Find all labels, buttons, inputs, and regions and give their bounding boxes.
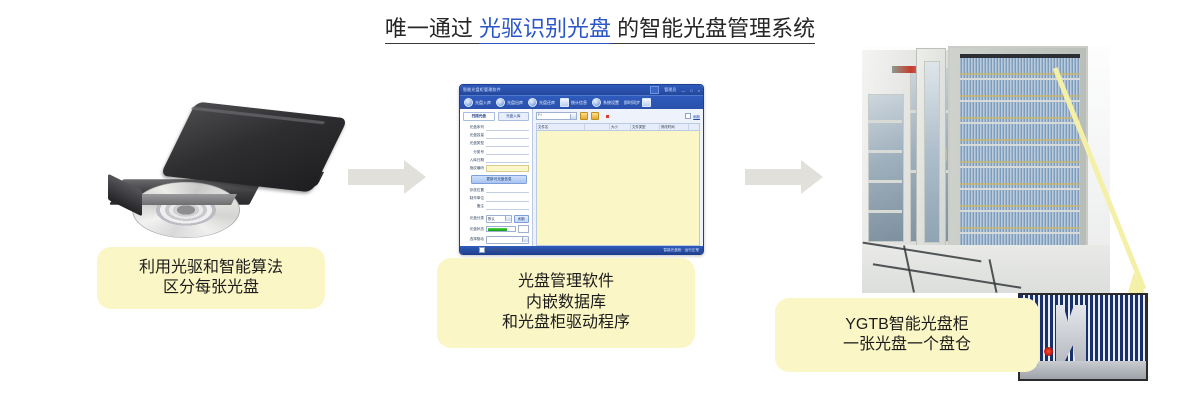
disc-count-stepper[interactable] xyxy=(518,225,529,233)
toolbar-disc-in-label: 光盘入库 xyxy=(475,100,491,106)
arrow-shaft xyxy=(348,169,404,185)
dvd-drive-photo xyxy=(112,108,344,220)
disc-status-progress xyxy=(486,226,516,232)
arrow-software-to-cabinet xyxy=(745,160,823,194)
toolbar-disc-out-label: 光盘出库 xyxy=(507,100,523,106)
field-location: 存放位置 xyxy=(463,188,529,194)
disc-shelf xyxy=(960,124,1080,147)
tab-disc-in[interactable]: 光盘入库 xyxy=(498,112,530,121)
title-prefix: 唯一通过 xyxy=(385,16,479,44)
caption-left-line1: 利用光驱和智能算法 xyxy=(139,258,283,278)
toolbar-settings[interactable]: 系统设置 xyxy=(592,98,619,107)
drive-select[interactable] xyxy=(486,236,529,244)
refresh-link[interactable]: 刷新 xyxy=(693,114,700,119)
disc-return-icon xyxy=(528,98,537,107)
toolbar-disc-in[interactable]: 光盘入库 xyxy=(464,98,491,107)
field-disc-status: 光盘状态 xyxy=(463,225,529,233)
caption-center: 光盘管理软件 内嵌数据库 和光盘柜驱动程序 xyxy=(437,258,695,348)
disc-in-icon xyxy=(464,98,473,107)
file-list-area[interactable] xyxy=(536,130,700,247)
disc-shelf xyxy=(960,190,1080,213)
toolbar-disc-return-label: 光盘还库 xyxy=(539,100,555,106)
field-disc-capacity: 光盘容量 xyxy=(463,133,529,139)
remark-input[interactable] xyxy=(486,204,529,210)
led-indicator xyxy=(1044,347,1053,356)
open-folder-icon[interactable] xyxy=(591,112,599,120)
field-label: 分类号 xyxy=(463,150,484,155)
disc-shelf xyxy=(960,212,1080,235)
cabinet-interior xyxy=(960,54,1080,248)
stats-icon xyxy=(560,98,569,107)
cabinet-glass-pane-left xyxy=(868,94,904,242)
arrow-drive-to-software xyxy=(348,160,426,194)
caption-center-line3: 和光盘柜驱动程序 xyxy=(502,313,630,333)
field-label: 光盘状态 xyxy=(463,227,484,232)
field-remark: 备注 xyxy=(463,204,529,210)
app-toolbar: 光盘入库 光盘出库 光盘还库 统计信息 系统设置 即时同步 xyxy=(460,95,703,109)
minimize-button[interactable]: — xyxy=(681,88,685,93)
user-label: 管理员 xyxy=(664,87,676,93)
tab-scan-disc[interactable]: 扫描光盘 xyxy=(463,112,495,121)
auto-read-checkbox[interactable]: 自动读取光盘 xyxy=(479,247,529,253)
in-date-input[interactable] xyxy=(486,157,529,163)
slot-base xyxy=(1020,361,1146,379)
arrow-head xyxy=(801,160,823,194)
disc-shelf xyxy=(960,102,1080,125)
field-label: 光盘序列 xyxy=(463,125,484,130)
field-label: 制作单位 xyxy=(463,196,484,201)
form-tabs: 扫描光盘 光盘入库 xyxy=(463,112,529,121)
field-label: 选择驱动 xyxy=(463,237,484,242)
field-label: 入库日期 xyxy=(463,158,484,163)
close-button[interactable]: × xyxy=(698,88,700,93)
field-fingerprint: 指纹编码 xyxy=(463,165,529,172)
app-body: 扫描光盘 光盘入库 光盘序列 光盘容量 光盘类型 分类号 xyxy=(460,109,703,246)
disc-capacity-input[interactable] xyxy=(486,133,529,139)
field-label: 存放位置 xyxy=(463,188,484,193)
field-maker: 制作单位 xyxy=(463,196,529,202)
disc-shelf xyxy=(960,58,1080,81)
field-label: 光盘类型 xyxy=(463,141,484,146)
caption-right-line2: 一张光盘一个盘仓 xyxy=(843,335,971,355)
field-disc-serial: 光盘序列 xyxy=(463,125,529,131)
toolbar-settings-label: 系统设置 xyxy=(603,100,619,106)
disc-type-input[interactable] xyxy=(486,141,529,147)
record-dot-icon xyxy=(606,115,609,118)
page-title: 唯一通过 光驱识别光盘 的智能光盘管理系统 xyxy=(0,14,1200,44)
title-suffix: 的智能光盘管理系统 xyxy=(611,16,815,44)
caption-center-line2: 内嵌数据库 xyxy=(502,293,630,313)
toolbar-stats-label: 统计信息 xyxy=(571,100,587,106)
disc-shelf xyxy=(960,146,1080,169)
caption-center-line1: 光盘管理软件 xyxy=(502,272,630,292)
status-text: 智能光盘柜 · 运行正常 xyxy=(663,248,699,253)
toolbar-disc-return[interactable]: 光盘还库 xyxy=(528,98,555,107)
app-titlebar: 智能光盘柜管理软件 管理员 — □ × xyxy=(460,85,703,95)
floor xyxy=(862,245,1110,293)
cabinet-glass-door[interactable] xyxy=(916,48,946,258)
caption-left: 利用光驱和智能算法 区分每张光盘 xyxy=(97,247,325,309)
title-emphasis: 光驱识别光盘 xyxy=(479,16,611,44)
field-label: 光盘分类 xyxy=(463,216,484,221)
refresh-checkbox[interactable] xyxy=(685,113,691,119)
toolbar-sync-label: 即时同步 xyxy=(624,100,640,106)
toolbar-disc-out[interactable]: 光盘出库 xyxy=(496,98,523,107)
maker-input[interactable] xyxy=(486,196,529,202)
drive-tray-lip xyxy=(135,194,237,205)
location-input[interactable] xyxy=(486,188,529,194)
field-drive-select: 选择驱动 xyxy=(463,236,529,244)
app-title-text: 智能光盘柜管理软件 xyxy=(463,87,501,93)
field-label: 指纹编码 xyxy=(463,166,484,171)
file-pane: F:\ 刷新 文件名 大小 文件类型 修改时间 xyxy=(533,109,703,246)
gear-icon xyxy=(592,98,601,107)
fingerprint-input[interactable] xyxy=(486,165,529,172)
disc-out-icon xyxy=(496,98,505,107)
category-no-input[interactable] xyxy=(486,149,529,155)
field-in-date: 入库日期 xyxy=(463,157,529,163)
form-pane: 扫描光盘 光盘入库 光盘序列 光盘容量 光盘类型 分类号 xyxy=(460,109,533,246)
smart-disc-cabinet xyxy=(948,46,1088,258)
disc-shelf xyxy=(960,168,1080,191)
file-toolbar: F:\ 刷新 xyxy=(536,112,700,120)
door-glass-panel xyxy=(924,61,940,243)
path-select[interactable]: F:\ xyxy=(536,112,577,120)
sync-icon xyxy=(642,98,651,107)
field-label: 备注 xyxy=(463,204,484,209)
field-disc-category: 光盘分类 默认 刷新 xyxy=(463,215,529,223)
folder-icon[interactable] xyxy=(580,112,588,120)
user-icon xyxy=(650,86,659,94)
field-label: 光盘容量 xyxy=(463,133,484,138)
arrow-shaft xyxy=(745,169,801,185)
caption-left-line2: 区分每张光盘 xyxy=(139,278,283,298)
checkbox-label: 自动读取光盘 xyxy=(487,247,507,252)
caption-right-line1: YGTB智能光盘柜 xyxy=(843,315,971,335)
toolbar-stats[interactable]: 统计信息 xyxy=(560,98,587,107)
checkbox-box xyxy=(479,247,485,253)
disc-cabinet-photo xyxy=(862,46,1110,293)
arrow-head xyxy=(404,160,426,194)
software-screenshot: 智能光盘柜管理软件 管理员 — □ × 光盘入库 光盘出库 光盘还库 xyxy=(459,84,704,255)
disc-serial-input[interactable] xyxy=(486,125,529,131)
disc-shelf xyxy=(960,80,1080,103)
field-category-no: 分类号 xyxy=(463,149,529,155)
field-disc-type: 光盘类型 xyxy=(463,141,529,147)
toolbar-sync[interactable]: 即时同步 xyxy=(624,98,651,107)
slide-canvas: 唯一通过 光驱识别光盘 的智能光盘管理系统 智能光盘柜管理软件 管理员 — □ … xyxy=(0,0,1200,400)
maximize-button[interactable]: □ xyxy=(690,88,692,93)
disc-category-select[interactable]: 默认 xyxy=(486,215,512,223)
caption-right: YGTB智能光盘柜 一张光盘一个盘仓 xyxy=(775,298,1039,372)
file-column-headers: 文件名 大小 文件类型 修改时间 xyxy=(536,123,700,130)
refresh-button[interactable]: 刷新 xyxy=(514,215,529,223)
update-disc-info-button[interactable]: 更新可光盘信息 xyxy=(471,175,527,184)
